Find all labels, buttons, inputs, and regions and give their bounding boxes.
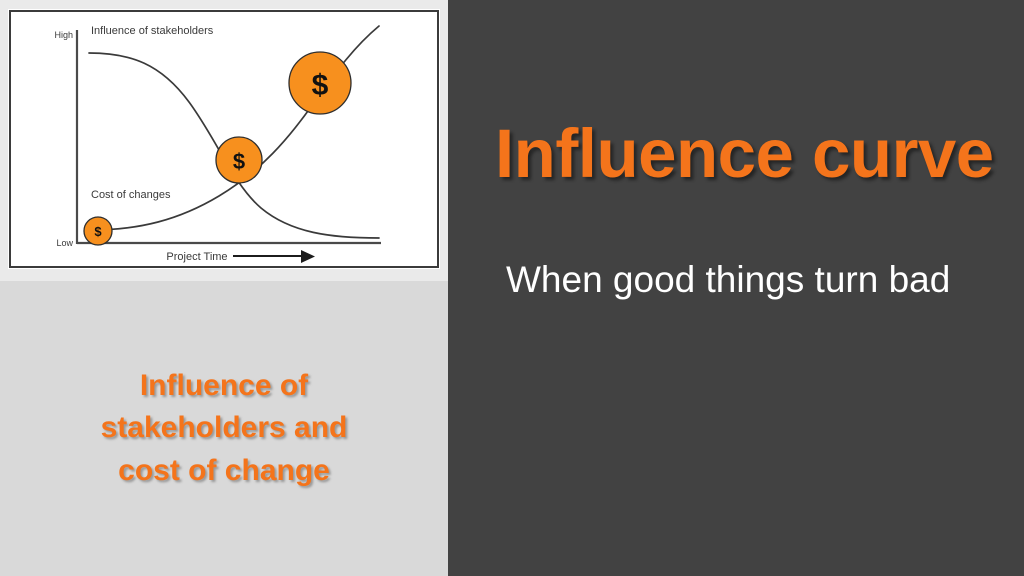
page-subtitle: When good things turn bad: [506, 258, 1006, 302]
cost-of-changes-label: Cost of changes: [91, 189, 171, 201]
left-column: High Low Influence of stakeholders Cost …: [0, 0, 448, 576]
page-title: Influence curve: [495, 118, 995, 190]
y-axis-low-label: Low: [56, 238, 73, 248]
dollar-bubble-large: $: [289, 52, 351, 114]
influence-of-stakeholders-label: Influence of stakeholders: [91, 25, 214, 37]
arrow-right-icon: [233, 250, 315, 263]
caption-text: Influence of stakeholders and cost of ch…: [54, 365, 394, 493]
dollar-icon: $: [312, 69, 329, 102]
chart-panel: High Low Influence of stakeholders Cost …: [0, 0, 448, 281]
influence-curve-chart: High Low Influence of stakeholders Cost …: [11, 12, 437, 266]
dollar-icon: $: [233, 149, 245, 174]
caption-panel: Influence of stakeholders and cost of ch…: [0, 281, 448, 576]
x-axis-title: Project Time: [166, 251, 227, 263]
chart-frame: High Low Influence of stakeholders Cost …: [9, 10, 439, 268]
dollar-bubble-medium: $: [216, 137, 262, 183]
dollar-bubble-small: $: [84, 217, 112, 245]
y-axis-high-label: High: [54, 30, 73, 40]
dollar-icon: $: [94, 224, 102, 239]
right-column: Influence curve When good things turn ba…: [448, 0, 1024, 576]
presentation-slide: High Low Influence of stakeholders Cost …: [0, 0, 1024, 576]
